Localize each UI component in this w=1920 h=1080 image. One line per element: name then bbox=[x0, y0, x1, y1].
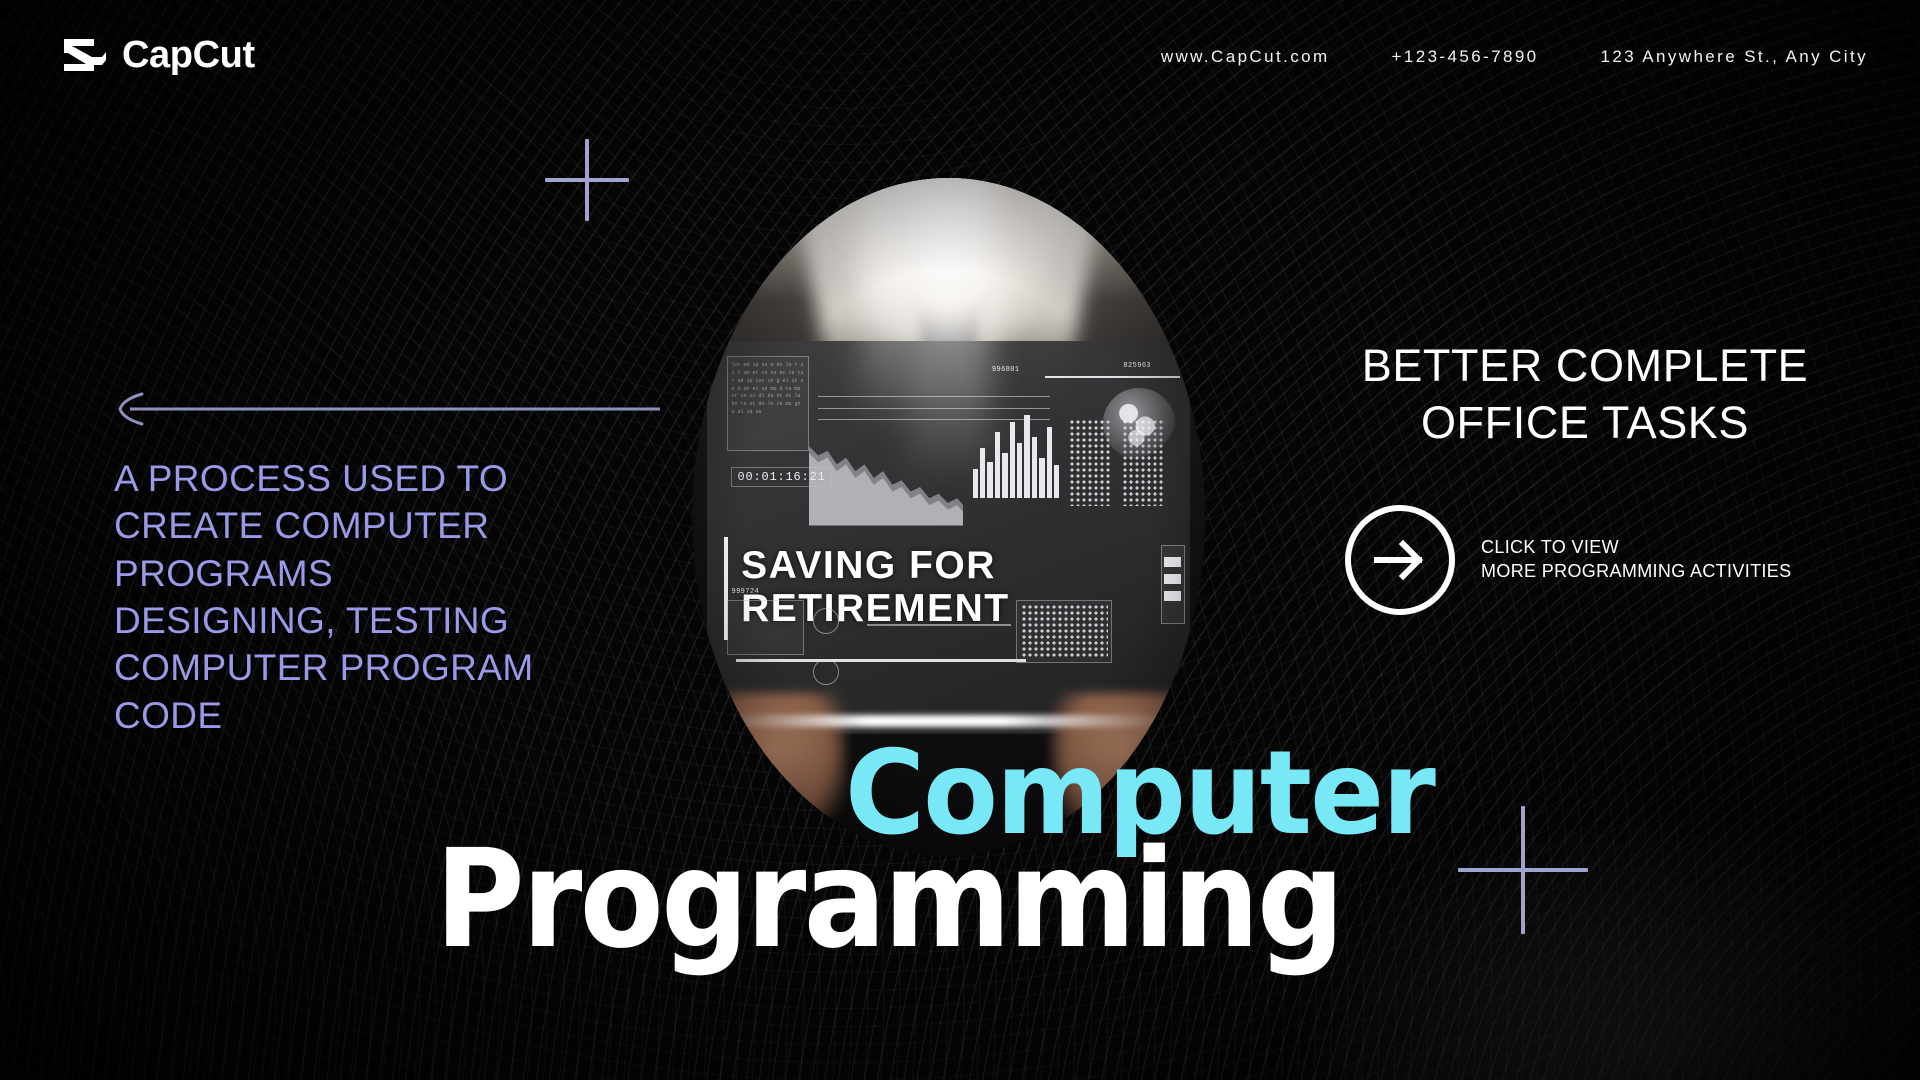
plus-marker-icon-bottom bbox=[1458, 806, 1588, 934]
hud-data-code: 825963 bbox=[1123, 362, 1151, 370]
hud-data-code: 996801 bbox=[992, 366, 1020, 374]
hud-globe-icon bbox=[1103, 388, 1175, 459]
left-description-line: PROGRAMS bbox=[114, 550, 584, 597]
left-description-line: DESIGNING, TESTING bbox=[114, 597, 584, 644]
left-description-line: A PROCESS USED TO bbox=[114, 455, 584, 502]
cta-label-line: CLICK TO VIEW bbox=[1481, 536, 1791, 560]
cta-label: CLICK TO VIEW MORE PROGRAMMING ACTIVITIE… bbox=[1481, 536, 1791, 584]
plus-marker-icon-top bbox=[545, 139, 629, 221]
poster-canvas: CapCut www.CapCut.com +123-456-7890 123 … bbox=[0, 0, 1920, 1080]
right-heading: BETTER COMPLETE OFFICE TASKS bbox=[1305, 338, 1865, 451]
left-description-line: CREATE COMPUTER bbox=[114, 502, 584, 549]
right-heading-line: BETTER COMPLETE bbox=[1305, 338, 1865, 395]
hud-value-label: 94. bbox=[1183, 676, 1199, 686]
hud-timecode: 00:01:16:21 bbox=[731, 467, 831, 487]
header-address: 123 Anywhere St., Any City bbox=[1601, 47, 1868, 67]
header-contact-group: www.CapCut.com +123-456-7890 123 Anywher… bbox=[1161, 47, 1868, 67]
header-bar: CapCut www.CapCut.com +123-456-7890 123 … bbox=[0, 0, 1920, 120]
header-website[interactable]: www.CapCut.com bbox=[1161, 47, 1330, 67]
brand-name: CapCut bbox=[122, 36, 255, 74]
arrow-right-circle-icon[interactable] bbox=[1345, 505, 1455, 615]
hud-slider bbox=[1161, 545, 1185, 624]
arrow-left-icon bbox=[112, 392, 660, 426]
left-description: A PROCESS USED TO CREATE COMPUTER PROGRA… bbox=[114, 455, 584, 739]
header-phone[interactable]: +123-456-7890 bbox=[1392, 47, 1539, 67]
right-heading-line: OFFICE TASKS bbox=[1305, 395, 1865, 452]
cta-label-line: MORE PROGRAMMING ACTIVITIES bbox=[1481, 560, 1791, 584]
capcut-logo-icon bbox=[62, 37, 108, 73]
left-description-line: CODE bbox=[114, 692, 584, 739]
hud-headline-line1: SAVING FOR bbox=[741, 544, 996, 587]
left-description-line: COMPUTER PROGRAM bbox=[114, 644, 584, 691]
title-primary-white: Programming bbox=[435, 832, 1342, 968]
cta-group[interactable]: CLICK TO VIEW MORE PROGRAMMING ACTIVITIE… bbox=[1345, 505, 1791, 615]
brand-logo[interactable]: CapCut bbox=[62, 36, 255, 74]
